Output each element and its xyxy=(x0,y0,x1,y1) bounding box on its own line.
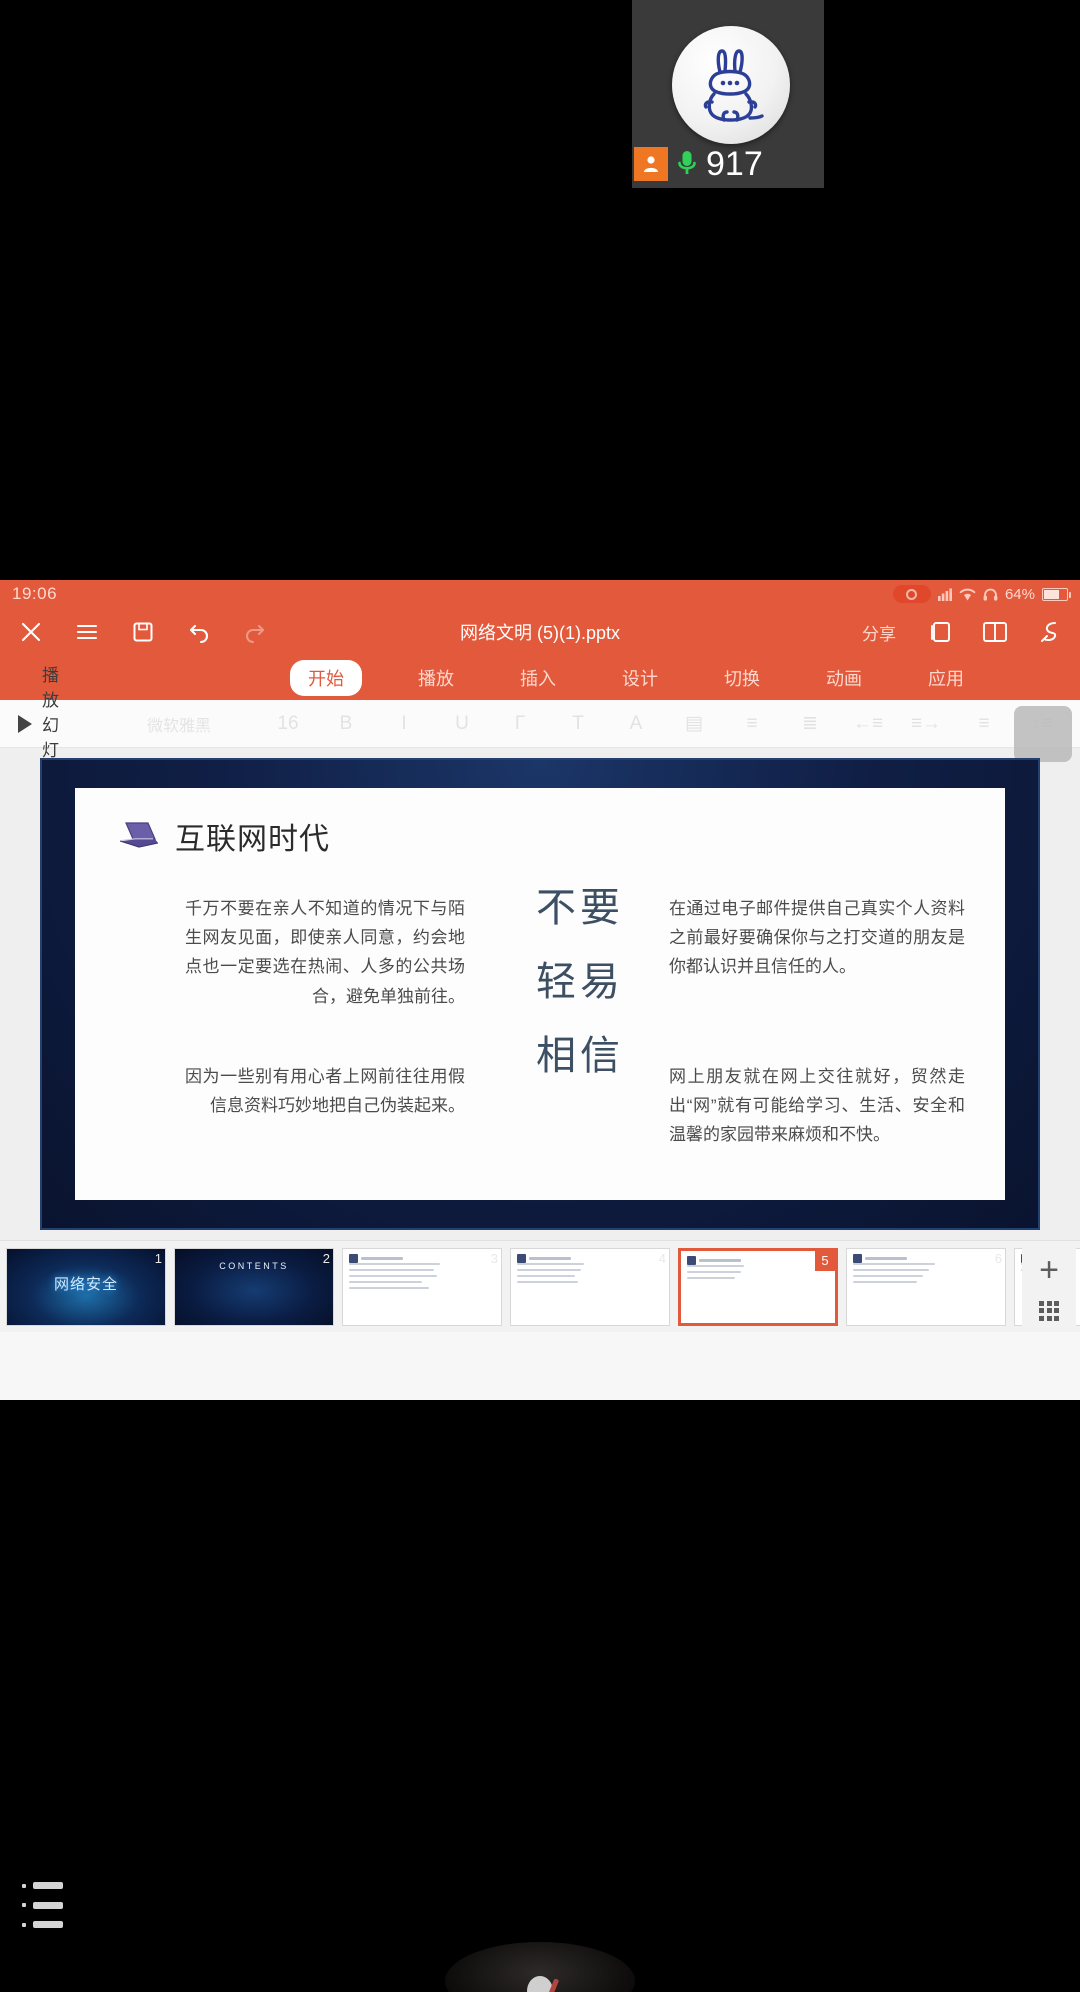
center-line-3: 相信 xyxy=(505,1036,655,1076)
thumbnail-number: 6 xyxy=(995,1251,1002,1266)
battery-icon xyxy=(1042,588,1068,601)
thumbnail-side-actions: + xyxy=(1022,1241,1076,1332)
decrease-indent-button[interactable]: ←≡ xyxy=(839,713,897,735)
duplicate-icon[interactable] xyxy=(926,617,956,647)
slide-text-bottom-right: 网上朋友就在网上交往就好，贸然走出“网”就有可能给学习、生活、安全和温馨的家园带… xyxy=(669,1062,965,1150)
thumbnail-slide-6[interactable]: 6 xyxy=(846,1248,1006,1326)
share-button[interactable]: 分享 xyxy=(856,618,902,647)
bold-button[interactable]: B xyxy=(317,713,375,735)
slide-body: 千万不要在亲人不知道的情况下与陌生网友见面，即使亲人同意，约会地点也一定要选在热… xyxy=(109,894,971,1194)
tab-kaishi[interactable]: 开始 xyxy=(290,660,362,696)
tab-qiehuan[interactable]: 切换 xyxy=(714,661,770,695)
book-view-icon[interactable] xyxy=(980,617,1010,647)
meeting-overlay[interactable]: 917 xyxy=(632,0,824,188)
numbering-button[interactable]: ≣ xyxy=(781,712,839,735)
format-toolbar: 播放幻灯片 微软雅黑 16 B I U Г T A ▤ ≡ ≣ ←≡ ≡→ ≡ … xyxy=(0,700,1080,748)
signal-icon xyxy=(938,588,952,601)
slide-thumbnail-strip[interactable]: 网络安全 1 CONTENTS 2 3 4 xyxy=(0,1240,1080,1332)
app-title-bar: 网络文明 (5)(1).pptx 分享 xyxy=(0,608,1080,656)
tab-yingyong[interactable]: 应用 xyxy=(918,661,974,695)
align-button[interactable]: ≡ xyxy=(955,713,1013,735)
slide-content[interactable]: 互联网时代 千万不要在亲人不知道的情况下与陌生网友见面，即使亲人同意，约会地点也… xyxy=(75,788,1005,1200)
wifi-icon xyxy=(959,588,976,601)
toolbar-overflow-handle[interactable] xyxy=(1014,706,1072,762)
recents-icon[interactable] xyxy=(22,1882,84,1928)
slide-text-top-left: 千万不要在亲人不知道的情况下与陌生网友见面，即使亲人同意，约会地点也一定要选在热… xyxy=(185,894,465,1011)
center-line-2: 轻易 xyxy=(505,962,655,1002)
slide-title: 互联网时代 xyxy=(175,814,330,858)
font-color-button[interactable]: A xyxy=(607,713,665,735)
thumbnail-number: 5 xyxy=(815,1251,835,1271)
person-icon xyxy=(634,147,668,181)
grid-view-icon[interactable] xyxy=(1039,1301,1059,1321)
avatar[interactable] xyxy=(672,26,790,144)
save-icon[interactable] xyxy=(128,617,158,647)
strikethrough-button[interactable]: Г xyxy=(491,713,549,735)
thumbnail-slide-4[interactable]: 4 xyxy=(510,1248,670,1326)
add-slide-button[interactable]: + xyxy=(1039,1253,1059,1287)
font-name-select[interactable]: 微软雅黑 xyxy=(99,712,259,736)
tab-bofang[interactable]: 播放 xyxy=(408,661,464,695)
text-size-button[interactable]: T xyxy=(549,713,607,735)
slide-frame[interactable]: 互联网时代 千万不要在亲人不知道的情况下与陌生网友见面，即使亲人同意，约会地点也… xyxy=(40,758,1040,1230)
system-status-bar: 19:06 64% xyxy=(0,580,1080,608)
slide-canvas[interactable]: 互联网时代 千万不要在亲人不知道的情况下与陌生网友见面，即使亲人同意，约会地点也… xyxy=(0,748,1080,1240)
participant-count: 917 xyxy=(706,147,763,181)
thumbnail-slide-2[interactable]: CONTENTS 2 xyxy=(174,1248,334,1326)
slide-text-bottom-left: 因为一些别有用心者上网前往往用假信息资料巧妙地把自己伪装起来。 xyxy=(185,1062,465,1120)
center-line-1: 不要 xyxy=(505,888,655,928)
bullets-button[interactable]: ≡ xyxy=(723,713,781,735)
tab-donghua[interactable]: 动画 xyxy=(816,661,872,695)
thumbnail-slide-1[interactable]: 网络安全 1 xyxy=(6,1248,166,1326)
wps-office-window: 19:06 64% xyxy=(0,580,1080,1400)
ink-pen-icon[interactable] xyxy=(1034,617,1064,647)
font-size-select[interactable]: 16 xyxy=(259,713,317,735)
play-icon xyxy=(18,715,32,733)
close-icon[interactable] xyxy=(16,617,46,647)
increase-indent-button[interactable]: ≡→ xyxy=(897,713,955,735)
slide-title-row: 互联网时代 xyxy=(115,814,971,858)
thumbnail-caption: 网络安全 xyxy=(7,1273,165,1294)
home-indicator-icon[interactable] xyxy=(445,1942,635,1992)
screen: 917 19:06 64% xyxy=(0,0,1080,1992)
thumbnail-slide-5[interactable]: 5 xyxy=(678,1248,838,1326)
highlight-button[interactable]: ▤ xyxy=(665,712,723,735)
slide-center-headline: 不要 轻易 相信 xyxy=(505,888,655,1110)
slide-text-top-right: 在通过电子邮件提供自己真实个人资料之前最好要确保你与之打交道的朋友是你都认识并且… xyxy=(669,894,965,982)
thumbnail-number: 1 xyxy=(155,1251,162,1266)
system-navigation-bar xyxy=(0,1892,1080,1992)
tab-sheji[interactable]: 设计 xyxy=(612,661,668,695)
battery-percent: 64% xyxy=(1005,586,1035,603)
thumbnail-slide-3[interactable]: 3 xyxy=(342,1248,502,1326)
thumbnail-caption: CONTENTS xyxy=(175,1261,333,1271)
italic-button[interactable]: I xyxy=(375,713,433,735)
thumbnail-number: 2 xyxy=(323,1251,330,1266)
record-icon xyxy=(893,585,931,603)
ribbon-tabs: 开始 播放 插入 设计 切换 动画 应用 xyxy=(0,656,1080,700)
undo-icon[interactable] xyxy=(184,617,214,647)
thumbnail-number: 3 xyxy=(491,1251,498,1266)
microphone-icon xyxy=(672,146,702,182)
redo-icon xyxy=(240,617,270,647)
thumbnail-number: 4 xyxy=(659,1251,666,1266)
overlay-badges: 917 xyxy=(634,144,763,184)
laptop-icon xyxy=(115,819,161,853)
bunny-avatar-icon xyxy=(688,42,774,128)
headset-icon xyxy=(983,588,998,601)
tab-charu[interactable]: 插入 xyxy=(510,661,566,695)
hamburger-menu-icon[interactable] xyxy=(72,617,102,647)
status-time: 19:06 xyxy=(12,584,57,604)
underline-button[interactable]: U xyxy=(433,713,491,735)
